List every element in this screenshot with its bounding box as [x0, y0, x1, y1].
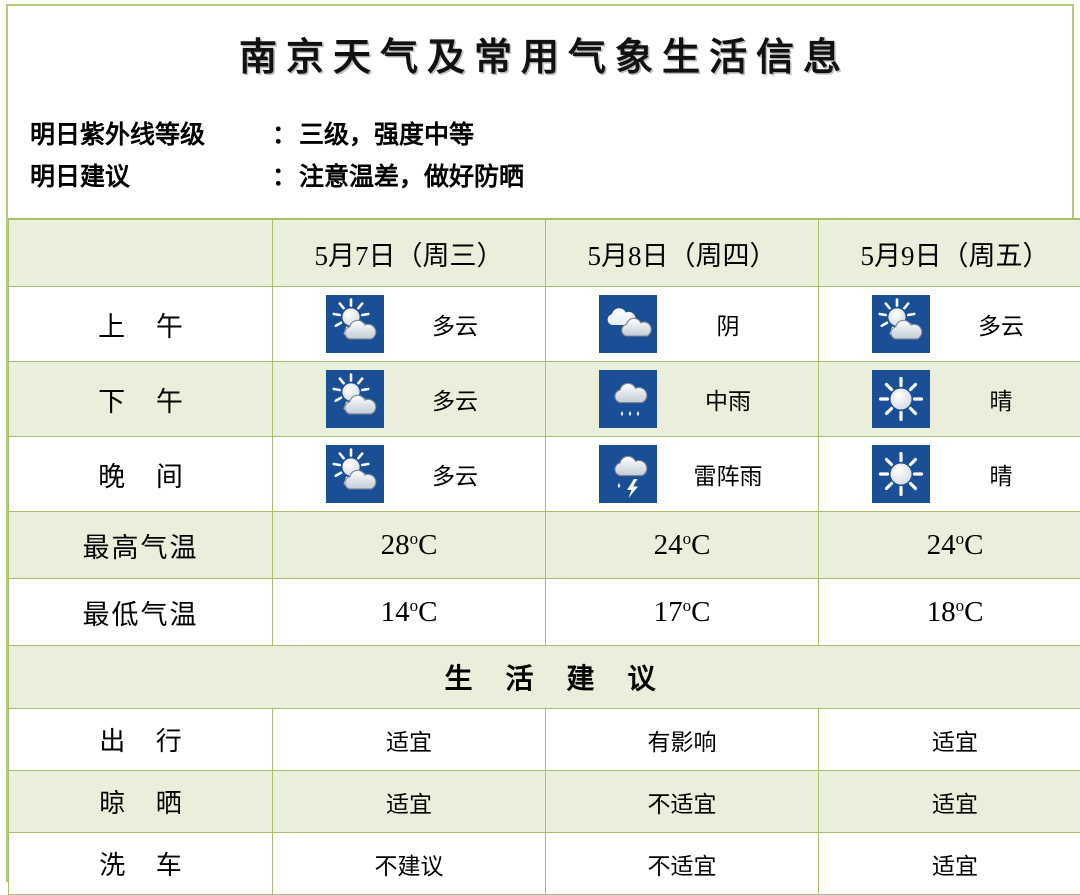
page-title: 南京天气及常用气象生活信息	[8, 6, 1072, 81]
partly-cloudy-icon	[326, 295, 384, 353]
row-label-high-temp: 最高气温	[83, 533, 199, 563]
condition-text-evening-day1: 多云	[418, 457, 492, 491]
cell-drying-day1: 适宜	[273, 771, 546, 833]
travel-value-day1: 适宜	[386, 730, 432, 755]
row-label-cell-high-temp: 最高气温	[9, 512, 273, 579]
header-block: 南京天气及常用气象生活信息 明日紫外线等级 ： 三级，强度中等 明日建议 ： 注…	[8, 6, 1072, 218]
partly-cloudy-icon	[326, 445, 384, 503]
partly-cloudy-icon	[326, 370, 384, 428]
condition-afternoon-day3: 晴	[819, 370, 1080, 428]
high-temp-value-day2: 24oC	[654, 529, 711, 561]
condition-text-evening-day3: 晴	[964, 457, 1038, 491]
sunny-icon	[872, 370, 930, 428]
table-row-low-temp: 最低气温 14oC 17oC 18oC	[9, 579, 1080, 646]
cell-travel-day2: 有影响	[546, 709, 819, 771]
condition-morning-day1: 多云	[273, 295, 545, 353]
suggestion-value: 注意温差，做好防晒	[299, 157, 1072, 199]
row-label-cell-drying: 晾 晒	[9, 771, 273, 833]
thunderstorm-icon	[599, 445, 657, 503]
low-temp-value-day3: 18oC	[927, 596, 984, 628]
uv-label: 明日紫外线等级	[30, 115, 272, 157]
overcast-icon	[599, 295, 657, 353]
row-label-cell-carwash: 洗 车	[9, 833, 273, 895]
header-cell-day2: 5月8日（周四）	[546, 219, 819, 287]
date-label-day2: 5月8日（周四）	[588, 241, 777, 271]
cell-carwash-day1: 不建议	[273, 833, 546, 895]
meta-block: 明日紫外线等级 ： 三级，强度中等 明日建议 ： 注意温差，做好防晒	[8, 115, 1072, 199]
sunny-icon	[872, 445, 930, 503]
condition-text-morning-day3: 多云	[964, 307, 1038, 341]
row-label-drying: 晾 晒	[87, 789, 194, 818]
date-label-day1: 5月7日（周三）	[315, 241, 504, 271]
rain-icon	[599, 370, 657, 428]
drying-value-day2: 不适宜	[648, 792, 717, 817]
cell-drying-day3: 适宜	[819, 771, 1080, 833]
row-label-cell-afternoon: 下 午	[9, 362, 273, 437]
low-temp-value-day2: 17oC	[654, 596, 711, 628]
table-row-evening: 晚 间 多云 雷阵雨	[9, 437, 1080, 512]
cell-carwash-day2: 不适宜	[546, 833, 819, 895]
table-row-high-temp: 最高气温 28oC 24oC 24oC	[9, 512, 1080, 579]
cell-low-temp-day3: 18oC	[819, 579, 1080, 646]
row-label-cell-travel: 出 行	[9, 709, 273, 771]
cell-evening-day3: 晴	[819, 437, 1080, 512]
meta-row-suggestion: 明日建议 ： 注意温差，做好防晒	[30, 157, 1072, 199]
row-label-cell-low-temp: 最低气温	[9, 579, 273, 646]
cell-low-temp-day2: 17oC	[546, 579, 819, 646]
header-cell-day3: 5月9日（周五）	[819, 219, 1080, 287]
header-cell-day1: 5月7日（周三）	[273, 219, 546, 287]
condition-text-afternoon-day1: 多云	[418, 382, 492, 416]
carwash-value-day3: 适宜	[932, 854, 978, 879]
table-row-morning: 上 午 多云 阴	[9, 287, 1080, 362]
condition-morning-day2: 阴	[546, 295, 818, 353]
row-label-morning: 上 午	[86, 312, 195, 342]
section-title: 生 活 建 议	[431, 664, 668, 695]
cell-evening-day2: 雷阵雨	[546, 437, 819, 512]
cell-high-temp-day2: 24oC	[546, 512, 819, 579]
condition-text-morning-day1: 多云	[418, 307, 492, 341]
condition-morning-day3: 多云	[819, 295, 1080, 353]
weather-table: 5月7日（周三） 5月8日（周四） 5月9日（周五） 上 午	[8, 218, 1080, 895]
condition-text-morning-day2: 阴	[691, 307, 765, 341]
header-corner-cell	[9, 219, 273, 287]
condition-evening-day3: 晴	[819, 445, 1080, 503]
low-temp-value-day1: 14oC	[381, 596, 438, 628]
table-header-row: 5月7日（周三） 5月8日（周四） 5月9日（周五）	[9, 219, 1080, 287]
cell-morning-day3: 多云	[819, 287, 1080, 362]
weather-info-page: 南京天气及常用气象生活信息 明日紫外线等级 ： 三级，强度中等 明日建议 ： 注…	[0, 0, 1080, 884]
meta-row-uv: 明日紫外线等级 ： 三级，强度中等	[30, 115, 1072, 157]
condition-evening-day1: 多云	[273, 445, 545, 503]
row-label-carwash: 洗 车	[87, 851, 194, 880]
carwash-value-day1: 不建议	[375, 854, 444, 879]
table-row-travel: 出 行 适宜 有影响 适宜	[9, 709, 1080, 771]
condition-text-afternoon-day3: 晴	[964, 382, 1038, 416]
row-label-travel: 出 行	[87, 727, 194, 756]
row-label-low-temp: 最低气温	[83, 600, 199, 630]
drying-value-day1: 适宜	[386, 792, 432, 817]
cell-low-temp-day1: 14oC	[273, 579, 546, 646]
suggestion-separator: ：	[272, 157, 299, 199]
row-label-evening: 晚 间	[86, 462, 195, 492]
table-row-drying: 晾 晒 适宜 不适宜 适宜	[9, 771, 1080, 833]
table-row-afternoon: 下 午 多云 中雨	[9, 362, 1080, 437]
uv-separator: ：	[272, 115, 299, 157]
page-frame: 南京天气及常用气象生活信息 明日紫外线等级 ： 三级，强度中等 明日建议 ： 注…	[6, 4, 1074, 882]
condition-text-evening-day2: 雷阵雨	[691, 457, 765, 491]
uv-value: 三级，强度中等	[299, 115, 1072, 157]
cell-afternoon-day1: 多云	[273, 362, 546, 437]
cell-drying-day2: 不适宜	[546, 771, 819, 833]
row-label-cell-morning: 上 午	[9, 287, 273, 362]
row-label-cell-evening: 晚 间	[9, 437, 273, 512]
table-row-carwash: 洗 车 不建议 不适宜 适宜	[9, 833, 1080, 895]
cell-afternoon-day2: 中雨	[546, 362, 819, 437]
carwash-value-day2: 不适宜	[648, 854, 717, 879]
suggestion-label: 明日建议	[30, 157, 272, 199]
travel-value-day3: 适宜	[932, 730, 978, 755]
condition-text-afternoon-day2: 中雨	[691, 382, 765, 416]
cell-high-temp-day3: 24oC	[819, 512, 1080, 579]
cell-travel-day1: 适宜	[273, 709, 546, 771]
table-row-section-header: 生 活 建 议	[9, 646, 1080, 709]
partly-cloudy-icon	[872, 295, 930, 353]
cell-afternoon-day3: 晴	[819, 362, 1080, 437]
condition-evening-day2: 雷阵雨	[546, 445, 818, 503]
condition-afternoon-day2: 中雨	[546, 370, 818, 428]
cell-travel-day3: 适宜	[819, 709, 1080, 771]
high-temp-value-day1: 28oC	[381, 529, 438, 561]
cell-morning-day2: 阴	[546, 287, 819, 362]
drying-value-day3: 适宜	[932, 792, 978, 817]
cell-morning-day1: 多云	[273, 287, 546, 362]
travel-value-day2: 有影响	[648, 730, 717, 755]
date-label-day3: 5月9日（周五）	[861, 241, 1050, 271]
row-label-afternoon: 下 午	[86, 387, 195, 417]
high-temp-value-day3: 24oC	[927, 529, 984, 561]
cell-high-temp-day1: 28oC	[273, 512, 546, 579]
condition-afternoon-day1: 多云	[273, 370, 545, 428]
section-header-cell: 生 活 建 议	[9, 646, 1080, 709]
cell-evening-day1: 多云	[273, 437, 546, 512]
cell-carwash-day3: 适宜	[819, 833, 1080, 895]
